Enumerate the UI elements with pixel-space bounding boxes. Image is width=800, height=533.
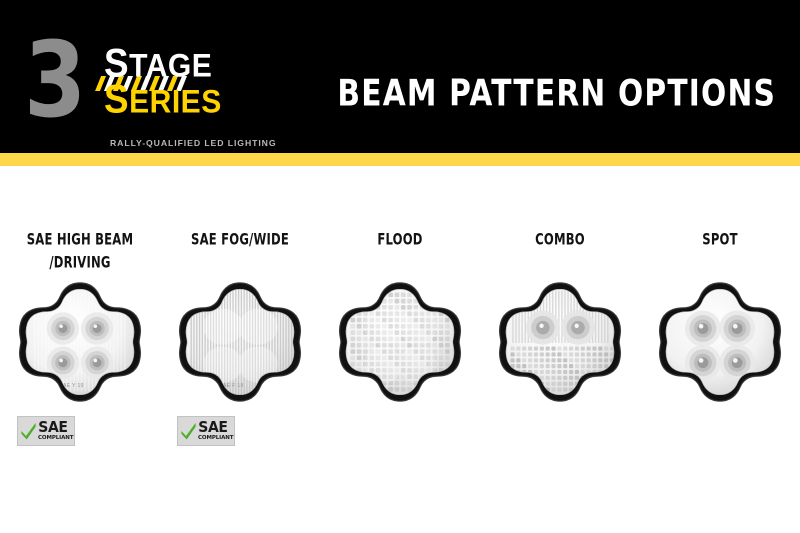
beam-pattern-label: SAE FOG/WIDE — [166, 228, 315, 251]
sae-badge-sub: COMPLIANT — [198, 435, 233, 442]
logo-series-rest: ERIES — [129, 83, 222, 120]
beam-pattern-column-flood: FLOODSAECOMPLIANT — [320, 166, 480, 533]
beam-pattern-column-combo: COMBOSAECOMPLIANT — [480, 166, 640, 533]
stage-series-logo: 3 STAGE SERIES RALLY-QUALIFIED LED LIGHT… — [24, 34, 254, 134]
beam-pattern-column-high-beam-driving: SAE HIGH BEAM /DRIVINGSAE Y 19SAECOMPLIA… — [0, 166, 160, 533]
logo-word-stage: STAGE — [104, 48, 212, 82]
logo-tagline: RALLY-QUALIFIED LED LIGHTING — [110, 138, 277, 148]
lens-image-combo — [497, 279, 623, 405]
green-check-icon — [20, 421, 37, 441]
sae-badge-main: SAE — [198, 420, 231, 435]
sae-badge-sub: COMPLIANT — [38, 435, 73, 442]
lens-image-high-beam-driving: SAE Y 19 — [17, 279, 143, 405]
page-title: BEAM PATTERN OPTIONS — [337, 74, 776, 115]
sae-badge-main: SAE — [38, 420, 71, 435]
sae-badge-text: SAECOMPLIANT — [198, 421, 231, 442]
beam-pattern-label: COMBO — [486, 228, 635, 251]
beam-pattern-columns: SAE HIGH BEAM /DRIVINGSAE Y 19SAECOMPLIA… — [0, 166, 800, 533]
logo-numeral-3: 3 — [24, 34, 107, 126]
beam-pattern-label: SAE HIGH BEAM /DRIVING — [6, 228, 155, 274]
header-accent-bar — [0, 153, 800, 166]
sae-compliant-badge: SAECOMPLIANT — [17, 416, 75, 446]
beam-pattern-label: FLOOD — [326, 228, 475, 251]
beam-pattern-label: SPOT — [646, 228, 795, 251]
sae-badge-text: SAECOMPLIANT — [38, 421, 71, 442]
beam-pattern-column-fog-wide: SAE FOG/WIDESAE F 19SAECOMPLIANT — [160, 166, 320, 533]
lens-image-flood — [337, 279, 463, 405]
logo-word-series: SERIES — [104, 84, 222, 118]
logo-stage-rest: TAGE — [129, 47, 212, 84]
beam-pattern-gallery: SAE HIGH BEAM /DRIVINGSAE Y 19SAECOMPLIA… — [0, 166, 800, 533]
sae-compliant-badge: SAECOMPLIANT — [177, 416, 235, 446]
green-check-icon — [180, 421, 197, 441]
logo-series-cap: S — [104, 78, 129, 122]
beam-pattern-column-spot: SPOTSAECOMPLIANT — [640, 166, 800, 533]
lens-image-spot — [657, 279, 783, 405]
page-header: 3 STAGE SERIES RALLY-QUALIFIED LED LIGHT… — [0, 0, 800, 153]
lens-image-fog-wide: SAE F 19 — [177, 279, 303, 405]
